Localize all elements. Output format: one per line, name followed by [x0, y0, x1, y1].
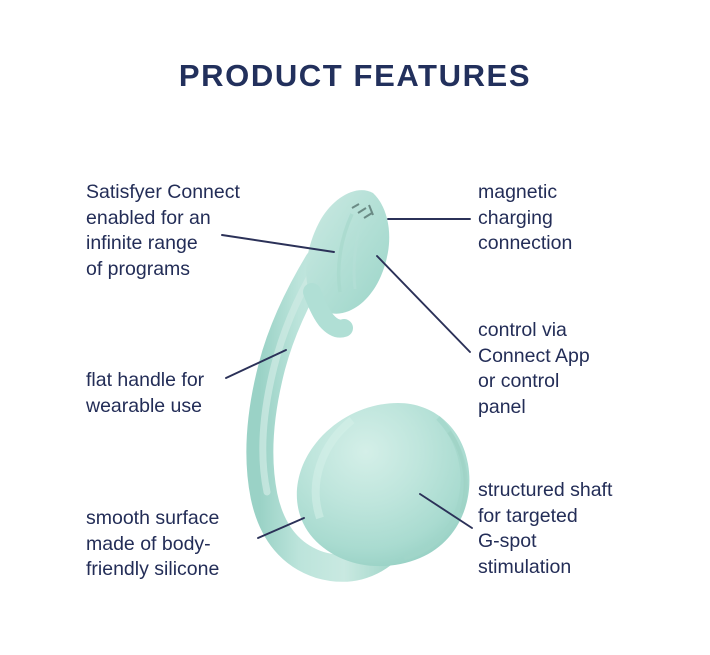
- leader-line-shaft: [420, 494, 472, 528]
- leader-lines: [0, 0, 710, 655]
- leader-line-handle: [226, 350, 286, 378]
- leader-line-connect: [222, 235, 334, 252]
- leader-line-silicone: [258, 518, 304, 538]
- product-features-infographic: PRODUCT FEATURES: [0, 0, 710, 655]
- leader-line-app: [377, 256, 470, 352]
